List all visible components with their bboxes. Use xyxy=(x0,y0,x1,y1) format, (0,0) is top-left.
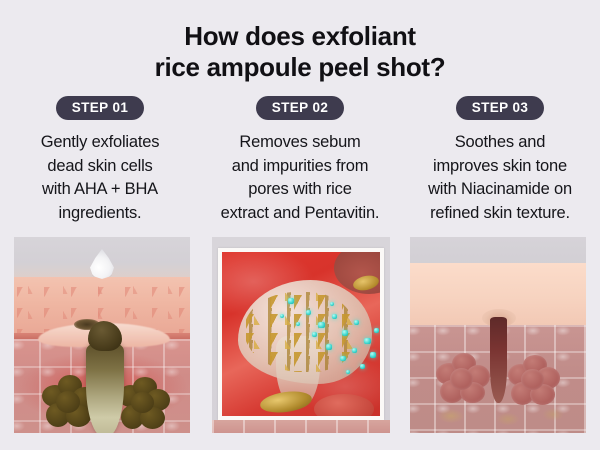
step-badge-01: STEP 01 xyxy=(56,96,145,120)
step-description-3: Soothes and improves skin tone with Niac… xyxy=(428,131,572,225)
step-column-2: STEP 02 Removes sebum and impurities fro… xyxy=(200,96,400,225)
step-3-line-4: refined skin texture. xyxy=(428,202,572,226)
step-1-line-4: ingredients. xyxy=(41,202,160,226)
step-2-line-3: pores with rice xyxy=(221,178,380,202)
figure3-background-sky xyxy=(410,237,586,265)
step-badge-02: STEP 02 xyxy=(256,96,345,120)
figure2-lower-tissue-bump xyxy=(314,394,374,420)
figure3-subdermal-fat-tint xyxy=(424,403,574,429)
figure1-sebaceous-gland-right xyxy=(118,377,170,429)
illustrations-strip xyxy=(0,237,600,433)
figure1-sebum-plug-body xyxy=(86,341,124,433)
step-2-line-1: Removes sebum xyxy=(221,131,380,155)
pore-closeup-ampoule-particles-image xyxy=(212,237,390,433)
skin-cross-section-clean-pore-image xyxy=(410,237,586,433)
step-description-2: Removes sebum and impurities from pores … xyxy=(221,131,380,225)
figure2-white-frame xyxy=(218,248,384,420)
step-1-line-3: with AHA + BHA xyxy=(41,178,160,202)
step-2-line-2: and impurities from xyxy=(221,155,380,179)
figure3-clean-pore-channel xyxy=(490,317,507,403)
figure3-sebaceous-gland-right xyxy=(508,355,560,405)
step-column-1: STEP 01 Gently exfoliates dead skin cell… xyxy=(0,96,200,225)
step-description-1: Gently exfoliates dead skin cells with A… xyxy=(41,131,160,225)
page-title: How does exfoliant rice ampoule peel sho… xyxy=(0,21,600,83)
figure2-dermis-base-strip xyxy=(212,420,390,433)
step-3-line-3: with Niacinamide on xyxy=(428,178,572,202)
title-line-2: rice ampoule peel shot? xyxy=(0,52,600,83)
figure3-sebaceous-gland-left xyxy=(436,353,490,403)
steps-container: STEP 01 Gently exfoliates dead skin cell… xyxy=(0,96,600,225)
step-1-line-2: dead skin cells xyxy=(41,155,160,179)
step-column-3: STEP 03 Soothes and improves skin tone w… xyxy=(400,96,600,225)
skin-cross-section-blackhead-image xyxy=(14,237,190,433)
step-badge-03: STEP 03 xyxy=(456,96,545,120)
step-3-line-2: improves skin tone xyxy=(428,155,572,179)
title-line-1: How does exfoliant xyxy=(0,21,600,52)
step-3-line-1: Soothes and xyxy=(428,131,572,155)
step-1-line-1: Gently exfoliates xyxy=(41,131,160,155)
step-2-line-4: extract and Pentavitin. xyxy=(221,202,380,226)
